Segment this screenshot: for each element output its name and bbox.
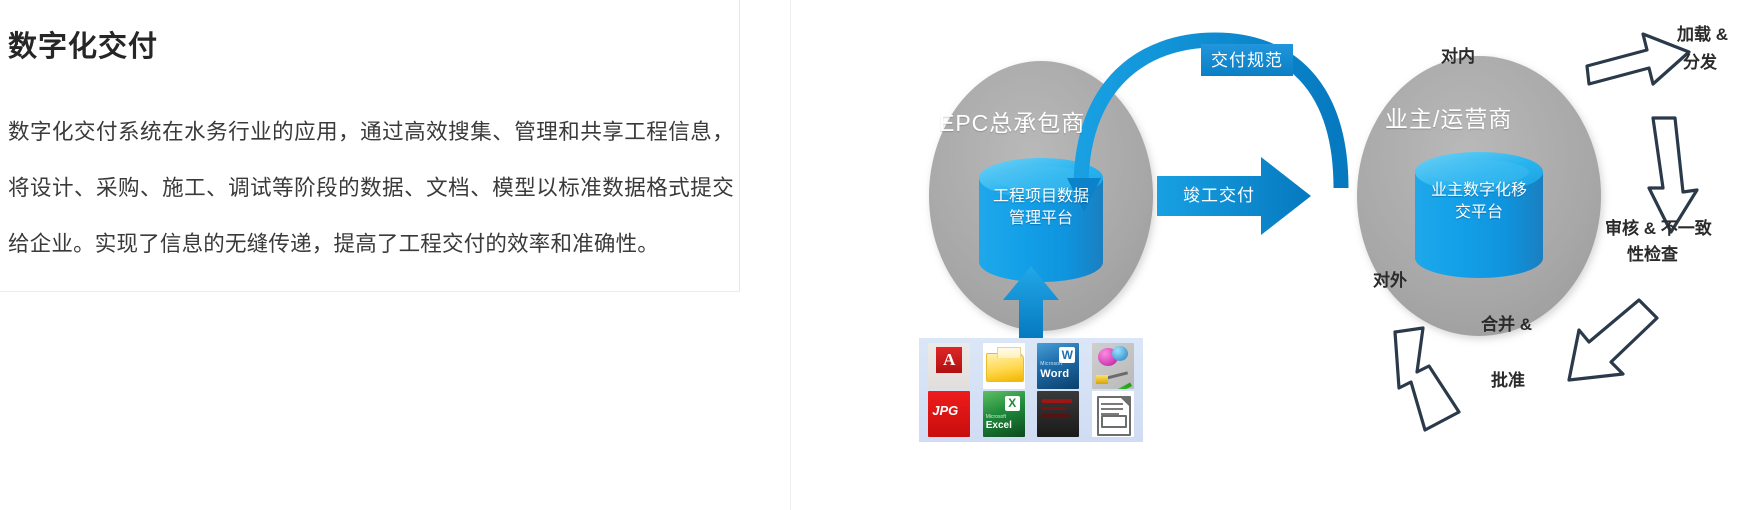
owner-node-label: 业主/运营商 — [1385, 100, 1512, 134]
text-panel: 数字化交付 数字化交付系统在水务行业的应用，通过高效搜集、管理和共享工程信息，将… — [0, 0, 740, 292]
image-3d-icon — [1092, 343, 1134, 389]
chip-delivery-spec: 交付规范 — [1201, 44, 1293, 76]
file-type-grid: A W Microsoft Word — [919, 338, 1143, 442]
label-merge-line1: 合并 & — [1481, 312, 1571, 338]
chip-handover: 竣工交付 — [1173, 163, 1265, 227]
excel-name: Excel — [986, 420, 1012, 431]
page-title: 数字化交付 — [8, 30, 158, 65]
screenshot-root: 数字化交付 数字化交付系统在水务行业的应用，通过高效搜集、管理和共享工程信息，将… — [0, 0, 1760, 510]
file-cell-word: W Microsoft Word — [1032, 343, 1085, 389]
pdf-glyph: A — [936, 347, 962, 373]
load-distribute-outline-arrow — [1587, 34, 1689, 84]
epc-cylinder-line1: 工程项目数据 — [979, 186, 1103, 208]
pdf-icon: A — [928, 343, 970, 389]
document-icon — [1092, 391, 1134, 437]
review-outline-arrow — [1649, 118, 1697, 232]
owner-cylinder-line2: 交平台 — [1415, 202, 1543, 224]
excel-icon: X Microsoft Excel — [983, 391, 1025, 437]
folder-icon — [983, 343, 1025, 389]
label-internal: 对内 — [1441, 42, 1475, 67]
file-cell-jpg: JPG — [923, 391, 976, 437]
file-cell-document — [1087, 391, 1140, 437]
file-cell-folder — [978, 343, 1031, 389]
jpg-text: JPG — [932, 403, 958, 418]
file-cell-excel: X Microsoft Excel — [978, 391, 1031, 437]
label-review-line2: 性检查 — [1627, 242, 1747, 268]
diagram-panel: EPC总承包商 业主/运营商 工程项目数据 管理平台 业主数字化移 交平台 交付… — [790, 0, 1760, 510]
jpg-icon: JPG — [928, 391, 970, 437]
word-brand: Microsoft — [1040, 361, 1062, 367]
excel-badge: X — [1005, 396, 1020, 411]
label-merge-line2: 批准 — [1491, 368, 1581, 394]
external-outline-arrow — [1395, 328, 1459, 430]
epc-node-label: EPC总承包商 — [939, 104, 1085, 138]
word-icon: W Microsoft Word — [1037, 343, 1079, 389]
merge-outline-arrow — [1569, 300, 1657, 380]
file-cell-cad-dark — [1032, 391, 1085, 437]
word-name: Word — [1040, 368, 1069, 380]
owner-cylinder-line1: 业主数字化移 — [1415, 180, 1543, 202]
epc-cylinder-line2: 管理平台 — [979, 208, 1103, 230]
label-review-line1: 审核 & 不一致 — [1605, 216, 1755, 242]
label-load-distribute-line2: 分发 — [1683, 50, 1760, 76]
cad-dark-icon — [1037, 391, 1079, 437]
page-paragraph: 数字化交付系统在水务行业的应用，通过高效搜集、管理和共享工程信息，将设计、采购、… — [8, 104, 734, 272]
label-load-distribute-line1: 加载 & — [1677, 22, 1760, 48]
file-cell-image-3d — [1087, 343, 1140, 389]
label-external: 对外 — [1373, 266, 1407, 291]
file-cell-pdf: A — [923, 343, 976, 389]
